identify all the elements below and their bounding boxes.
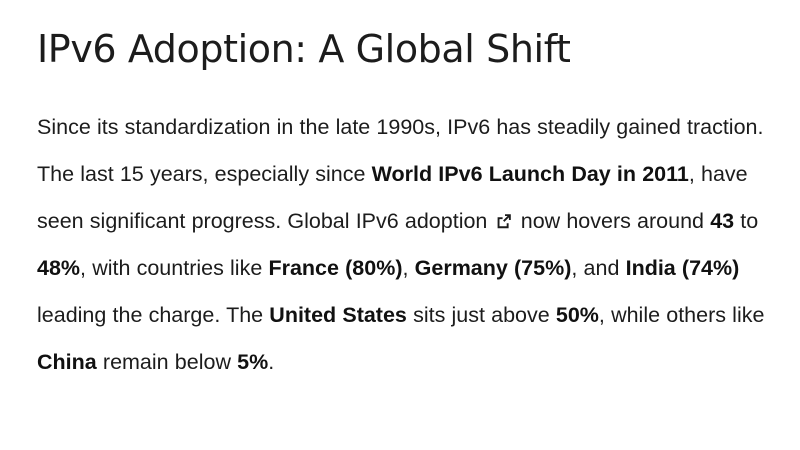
emphasis-united-states-percent: 50% — [556, 303, 599, 327]
emphasis-adoption-high: 48% — [37, 256, 80, 280]
paragraph-run-plain: , and — [571, 256, 625, 280]
article-container: IPv6 Adoption: A Global Shift Since its … — [0, 0, 800, 450]
paragraph-run-plain: to — [734, 209, 758, 233]
paragraph-run-plain: remain below — [97, 350, 237, 374]
emphasis-adoption-low: 43 — [710, 209, 734, 233]
emphasis-china: China — [37, 350, 97, 374]
page-title: IPv6 Adoption: A Global Shift — [37, 24, 776, 74]
paragraph-run-plain: , while others like — [599, 303, 765, 327]
paragraph-run-plain: , with countries like — [80, 256, 268, 280]
emphasis-united-states: United States — [269, 303, 407, 327]
external-link-icon[interactable] — [496, 213, 512, 229]
emphasis-india: India (74%) — [626, 256, 740, 280]
paragraph-run-plain: leading the charge. The — [37, 303, 269, 327]
emphasis-world-ipv6-launch-day: World IPv6 Launch Day in 2011 — [372, 162, 689, 186]
article-paragraph: Since its standardization in the late 19… — [37, 104, 779, 386]
emphasis-france: France (80%) — [268, 256, 402, 280]
paragraph-run-plain: . — [268, 350, 274, 374]
paragraph-run-plain: , — [402, 256, 414, 280]
paragraph-run-plain: now hovers around — [515, 209, 711, 233]
paragraph-run-plain: sits just above — [407, 303, 556, 327]
emphasis-germany: Germany (75%) — [415, 256, 572, 280]
emphasis-china-percent: 5% — [237, 350, 268, 374]
